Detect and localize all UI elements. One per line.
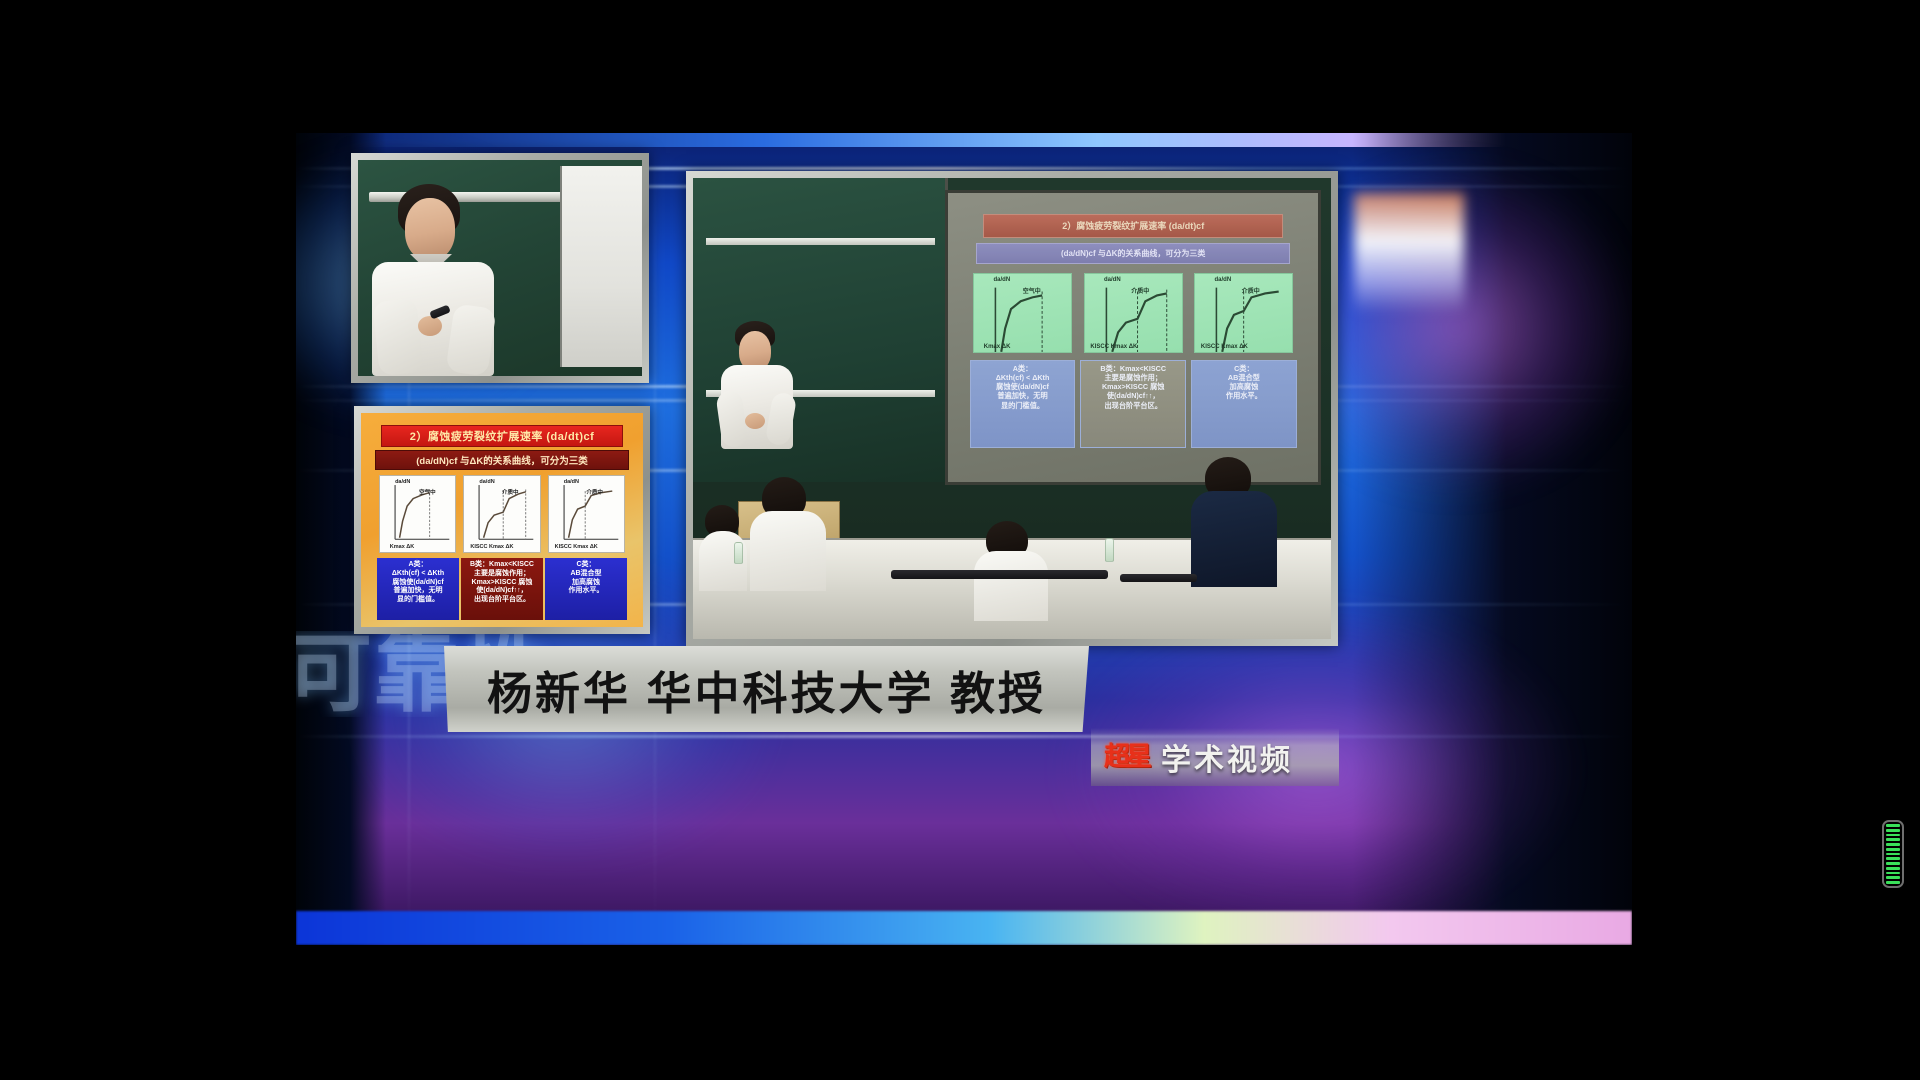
lower-third-name-text: 杨新华 华中科技大学 教授 xyxy=(487,657,1046,722)
chart-b-ylabel: da/dN xyxy=(479,479,494,485)
chart-c-ylabel: da/dN xyxy=(564,479,579,485)
projected-slide: 2）腐蚀疲劳裂纹扩展速率 (da/dt)cf (da/dN)cf 与ΔK的关系曲… xyxy=(945,190,1321,485)
level-segment xyxy=(1886,838,1900,841)
water-bottle xyxy=(734,542,743,564)
projected-chart-c-legend: 介质中 xyxy=(1242,286,1260,295)
chart-b-xlabel: KISCC Kmax ΔK xyxy=(470,544,513,550)
slide-box-b-line4: 出现台阶平台区。 xyxy=(463,596,541,605)
slide-box-b-line1: 主要是腐蚀作用； xyxy=(463,570,541,579)
slide-box-a-line2: 腐蚀使(da/dN)cf xyxy=(379,579,457,588)
student-1 xyxy=(699,501,756,639)
level-segment xyxy=(1886,843,1900,846)
lecturer-arm-left xyxy=(372,298,423,376)
slide-chart-row: da/dN 空气中 Kmax ΔK xyxy=(379,475,625,553)
channel-logo-seal: 超星 xyxy=(1091,729,1161,785)
slide-box-c-line2: 加高腐蚀 xyxy=(547,579,625,588)
chart-a-xlabel: Kmax ΔK xyxy=(390,544,414,550)
projected-chart-b: da/dN 介质中 KISCC Kmax ΔK xyxy=(1084,273,1183,353)
chart-a-legend: 空气中 xyxy=(419,488,436,496)
projected-chart-a-ylabel: da/dN xyxy=(993,277,1010,283)
projected-slide-inner: 2）腐蚀疲劳裂纹扩展速率 (da/dt)cf (da/dN)cf 与ΔK的关系曲… xyxy=(948,193,1318,482)
channel-logo: 超星 学术视频 xyxy=(1091,728,1339,786)
main-video-screen: 2）腐蚀疲劳裂纹扩展速率 (da/dt)cf (da/dN)cf 与ΔK的关系曲… xyxy=(693,178,1331,639)
projected-box-a-line3: 普遍加快，无明 xyxy=(973,391,1073,400)
slide-chart-b: da/dN 介质中 KISCC Kmax ΔK xyxy=(463,475,540,553)
chart-b-legend: 介质中 xyxy=(502,488,519,496)
projected-box-c-label: C类： xyxy=(1194,364,1294,373)
projected-box-b-line2: Kmax>KISCC 腐蚀 xyxy=(1083,382,1183,391)
level-segment xyxy=(1886,862,1900,865)
projected-chart-c-ylabel: da/dN xyxy=(1215,277,1232,283)
projected-box-b-line3: 使(da/dN)cf↑↑， xyxy=(1083,391,1183,400)
projected-box-b: B类：Kmax<KISCC 主要是腐蚀作用； Kmax>KISCC 腐蚀 使(d… xyxy=(1080,360,1186,448)
projected-box-c-line3: 作用水平。 xyxy=(1194,391,1294,400)
lower-third-name-bar: 杨新华 华中科技大学 教授 xyxy=(444,646,1089,732)
slide-title: 2）腐蚀疲劳裂纹扩展速率 (da/dt)cf xyxy=(381,425,623,447)
student-2 xyxy=(750,473,827,639)
projected-chart-a: da/dN 空气中 Kmax ΔK xyxy=(973,273,1072,353)
projected-box-b-label: B类：Kmax<KISCC xyxy=(1083,364,1183,373)
slide-box-b: B类：Kmax<KISCC 主要是腐蚀作用； Kmax>KISCC 腐蚀 使(d… xyxy=(461,558,543,620)
slide-box-c-label: C类： xyxy=(547,561,625,570)
desk-edge-bar xyxy=(891,570,1108,579)
projected-box-c-line1: AB混合型 xyxy=(1194,373,1294,382)
slide-box-c-line3: 作用水平。 xyxy=(547,587,625,596)
student-3-body xyxy=(974,551,1048,621)
slide-box-b-label: B类：Kmax<KISCC xyxy=(463,561,541,570)
water-bottle xyxy=(1105,538,1114,562)
slide-box-a-line1: ΔKth(cf) < ΔKth xyxy=(379,570,457,579)
chart-c-legend: 介质中 xyxy=(586,488,603,496)
inset-slide-thumbnail[interactable]: 2）腐蚀疲劳裂纹扩展速率 (da/dt)cf (da/dN)cf 与ΔK的关系曲… xyxy=(354,406,650,634)
audio-level-meter[interactable] xyxy=(1882,820,1904,888)
slide-body: 2）腐蚀疲劳裂纹扩展速率 (da/dt)cf (da/dN)cf 与ΔK的关系曲… xyxy=(361,413,643,627)
slide-chart-a: da/dN 空气中 Kmax ΔK xyxy=(379,475,456,553)
main-video-panel[interactable]: 2）腐蚀疲劳裂纹扩展速率 (da/dt)cf (da/dN)cf 与ΔK的关系曲… xyxy=(686,171,1338,646)
level-segment xyxy=(1886,853,1900,856)
podium-lecturer-hands xyxy=(745,413,765,429)
inset-lecturer-screen xyxy=(358,160,642,376)
inset-slide-screen: 2）腐蚀疲劳裂纹扩展速率 (da/dt)cf (da/dN)cf 与ΔK的关系曲… xyxy=(361,413,643,627)
projected-box-c: C类： AB混合型 加高腐蚀 作用水平。 xyxy=(1191,360,1297,448)
projected-box-a-line2: 腐蚀使(da/dN)cf xyxy=(973,382,1073,391)
level-segment xyxy=(1886,876,1900,879)
video-frame: 可靠性 xyxy=(296,133,1632,945)
projected-box-a: A类： ΔKth(cf) < ΔKth 腐蚀使(da/dN)cf 普遍加快，无明… xyxy=(970,360,1076,448)
level-segment xyxy=(1886,834,1900,837)
projected-chart-b-legend: 介质中 xyxy=(1131,286,1149,295)
student-4 xyxy=(1191,455,1280,639)
level-segment xyxy=(1886,848,1900,851)
projected-chart-c-xlabel: KISCC Kmax ΔK xyxy=(1201,344,1248,350)
projected-chart-b-xlabel: KISCC Kmax ΔK xyxy=(1090,344,1137,350)
projected-box-b-line4: 出现台阶平台区。 xyxy=(1083,401,1183,410)
screen-root: 可靠性 xyxy=(0,0,1920,1080)
slide-box-c: C类： AB混合型 加高腐蚀 作用水平。 xyxy=(545,558,627,620)
slide-box-a-line4: 显的门槛值。 xyxy=(379,596,457,605)
chart-a-ylabel: da/dN xyxy=(395,479,410,485)
chalkboard-rail xyxy=(369,192,562,202)
projected-box-row: A类： ΔKth(cf) < ΔKth 腐蚀使(da/dN)cf 普遍加快，无明… xyxy=(970,360,1297,448)
chart-c-xlabel: KISCC Kmax ΔK xyxy=(555,544,598,550)
projected-box-a-label: A类： xyxy=(973,364,1073,373)
projected-chart-b-ylabel: da/dN xyxy=(1104,277,1121,283)
lecture-hall-chalkboard-rail xyxy=(706,238,936,245)
level-segment xyxy=(1886,867,1900,870)
background-bottom-sweep xyxy=(296,911,1632,945)
projection-screen xyxy=(560,166,642,367)
projected-slide-subtitle: (da/dN)cf 与ΔK的关系曲线，可分为三类 xyxy=(976,243,1290,264)
projected-slide-title: 2）腐蚀疲劳裂纹扩展速率 (da/dt)cf xyxy=(983,214,1283,238)
slide-box-row: A类： ΔKth(cf) < ΔKth 腐蚀使(da/dN)cf 普遍加快，无明… xyxy=(377,558,627,620)
student-2-body xyxy=(750,511,826,591)
slide-box-c-line1: AB混合型 xyxy=(547,570,625,579)
slide-box-a: A类： ΔKth(cf) < ΔKth 腐蚀使(da/dN)cf 普遍加快，无明… xyxy=(377,558,459,620)
level-segment xyxy=(1886,881,1900,884)
projected-box-a-line1: ΔKth(cf) < ΔKth xyxy=(973,373,1073,382)
chart-a-curve-svg xyxy=(380,476,455,551)
background-flare xyxy=(1354,193,1464,313)
slide-box-b-line2: Kmax>KISCC 腐蚀 xyxy=(463,579,541,588)
projected-box-b-line1: 主要是腐蚀作用； xyxy=(1083,373,1183,382)
slide-box-a-label: A类： xyxy=(379,561,457,570)
level-segment xyxy=(1886,857,1900,860)
lecturer-head xyxy=(405,198,455,260)
inset-lecturer-closeup[interactable] xyxy=(351,153,649,383)
slide-subtitle: (da/dN)cf 与ΔK的关系曲线，可分为三类 xyxy=(375,450,629,470)
projected-chart-a-legend: 空气中 xyxy=(1023,286,1041,295)
slide-box-a-line3: 普遍加快，无明 xyxy=(379,587,457,596)
projected-box-a-line4: 显的门槛值。 xyxy=(973,401,1073,410)
level-segment xyxy=(1886,824,1900,827)
level-segment xyxy=(1886,872,1900,875)
lecturer-hand xyxy=(418,316,442,336)
slide-box-b-line3: 使(da/dN)cf↑↑， xyxy=(463,587,541,596)
projected-chart-a-xlabel: Kmax ΔK xyxy=(984,344,1011,350)
level-segment xyxy=(1886,829,1900,832)
channel-logo-text: 学术视频 xyxy=(1161,735,1293,779)
projected-chart-row: da/dN 空气中 Kmax ΔK xyxy=(973,273,1293,353)
desk-edge-bar xyxy=(1120,574,1197,582)
slide-chart-c: da/dN 介质中 KISCC Kmax ΔK xyxy=(548,475,625,553)
projected-box-c-line2: 加高腐蚀 xyxy=(1194,382,1294,391)
projected-chart-c: da/dN 介质中 KISCC Kmax ΔK xyxy=(1194,273,1293,353)
student-3 xyxy=(974,519,1051,639)
student-4-body xyxy=(1191,491,1277,587)
